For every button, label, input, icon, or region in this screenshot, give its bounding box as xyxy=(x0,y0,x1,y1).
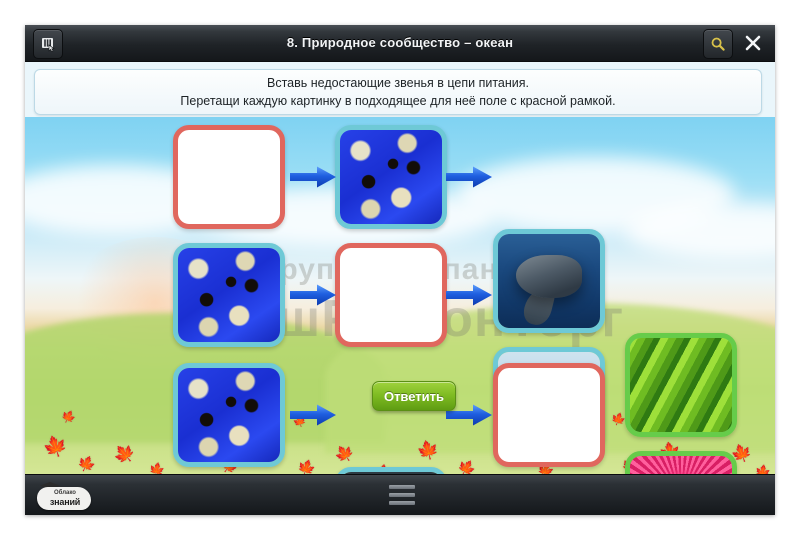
instruction-line-2: Перетащи каждую картинку в подходящее дл… xyxy=(180,92,615,110)
instruction-line-1: Вставь недостающие звенья в цепи питания… xyxy=(267,74,529,92)
logo-text-top: Облако xyxy=(43,490,87,496)
chain-photo[interactable] xyxy=(173,363,285,467)
answer-button[interactable]: Ответить xyxy=(372,381,456,411)
instruction-banner: Вставь недостающие звенья в цепи питания… xyxy=(34,69,762,115)
photo-art-plankton xyxy=(178,248,280,342)
arrow-right-icon xyxy=(289,165,337,189)
hamburger-bar xyxy=(389,493,415,497)
food-chain-grid xyxy=(25,117,775,485)
food-chain-row xyxy=(25,125,775,237)
page-title: 8. Природное сообщество – океан xyxy=(25,25,775,61)
empty-drop-slot[interactable] xyxy=(335,243,447,347)
hamburger-menu-icon[interactable] xyxy=(389,485,415,505)
empty-drop-slot[interactable] xyxy=(493,363,605,467)
chain-photo[interactable] xyxy=(335,125,447,229)
chain-photo[interactable] xyxy=(173,243,285,347)
food-chain-row xyxy=(25,243,775,355)
lesson-window: 8. Природное сообщество – океан Вставь н… xyxy=(25,25,775,515)
magnifier-icon[interactable] xyxy=(703,29,733,59)
arrow-right-icon xyxy=(289,403,337,427)
close-x-icon[interactable] xyxy=(739,29,767,57)
arrow-right-icon xyxy=(445,165,493,189)
photo-art-plankton xyxy=(178,368,280,462)
food-chain-row xyxy=(25,363,775,475)
arrow-right-icon xyxy=(289,283,337,307)
oblako-znaniy-logo[interactable]: Облако знаний xyxy=(33,478,95,512)
arrow-right-icon xyxy=(445,283,493,307)
photo-art-plankton xyxy=(340,130,442,224)
logo-text-bottom: знаний xyxy=(39,497,91,507)
title-bar: 8. Природное сообщество – океан xyxy=(25,25,775,62)
hamburger-bar xyxy=(389,485,415,489)
empty-drop-slot[interactable] xyxy=(173,125,285,229)
hamburger-bar xyxy=(389,501,415,505)
app-root: 8. Природное сообщество – океан Вставь н… xyxy=(0,0,800,539)
bottom-bar: Облако знаний xyxy=(25,474,775,515)
